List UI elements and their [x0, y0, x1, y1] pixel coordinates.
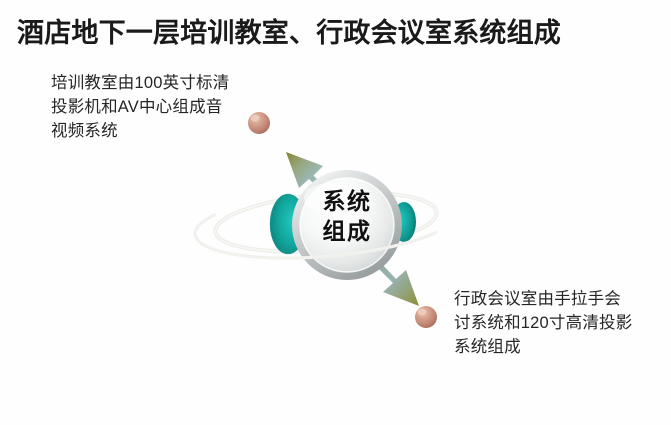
callout-training-room-line-2: 投影机和AV中心组成音: [51, 95, 266, 119]
callout-training-room: 培训教室由100英寸标清 投影机和AV中心组成音 视频系统: [51, 71, 266, 143]
diagram-svg: [0, 0, 671, 425]
callout-executive-meeting-room-line-3: 系统组成: [454, 335, 659, 359]
slide-canvas: 酒店地下一层培训教室、行政会议室系统组成: [0, 0, 671, 425]
callout-training-room-line-3: 视频系统: [51, 119, 266, 143]
hub-sphere: [292, 170, 402, 280]
callout-executive-meeting-room: 行政会议室由手拉手会 讨系统和120寸高清投影 系统组成: [454, 287, 659, 359]
marker-ball-bottom: [415, 306, 437, 328]
hub-and-spoke-diagram: [0, 0, 671, 425]
callout-executive-meeting-room-line-2: 讨系统和120寸高清投影: [454, 311, 659, 335]
callout-executive-meeting-room-line-1: 行政会议室由手拉手会: [454, 287, 659, 311]
callout-training-room-line-1: 培训教室由100英寸标清: [51, 71, 266, 95]
